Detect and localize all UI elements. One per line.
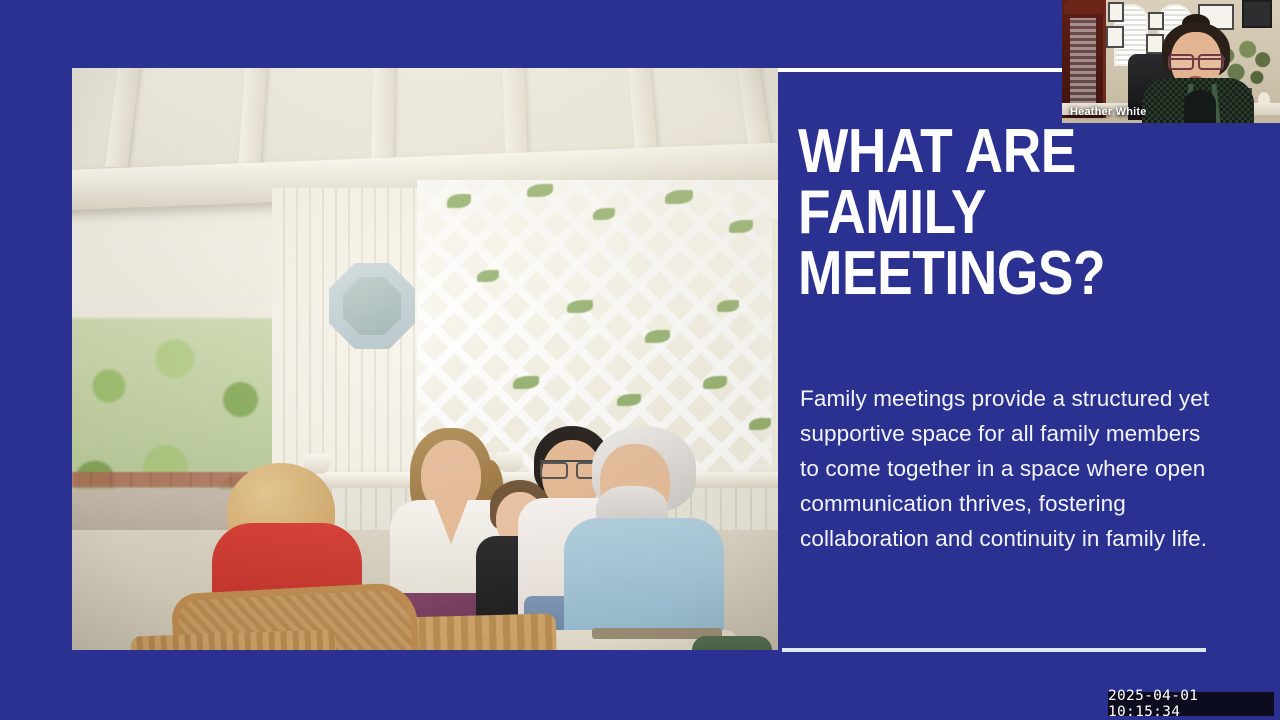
recording-timestamp: 2025-04-01 10:15:34 <box>1108 692 1274 716</box>
wall-frame-2 <box>1106 26 1124 48</box>
curio-cabinet <box>1062 0 1106 118</box>
divider-line-top <box>778 68 1062 72</box>
webcam-participant-video <box>1146 18 1250 123</box>
webcam-overlay[interactable]: Heather White <box>1062 0 1280 123</box>
webcam-participant-name: Heather White <box>1070 106 1147 118</box>
slide-photo <box>72 68 778 650</box>
wall-frame-1 <box>1108 2 1124 22</box>
eyeglasses-icon <box>1168 54 1224 66</box>
slide-title: What are family meetings? <box>798 122 1159 304</box>
green-cushion <box>692 636 772 650</box>
slide-body-text: Family meetings provide a structured yet… <box>800 381 1220 556</box>
planter-b <box>497 452 523 472</box>
divider-line-bottom <box>782 648 1206 652</box>
brick-wall <box>72 472 248 488</box>
presentation-slide: What are family meetings? Family meeting… <box>0 0 1280 720</box>
